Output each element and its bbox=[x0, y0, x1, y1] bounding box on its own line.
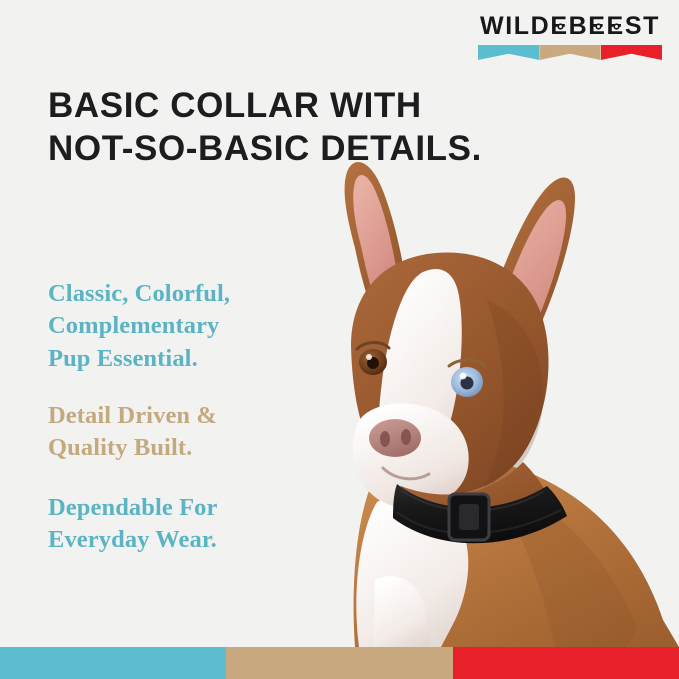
brand-wordmark: W I L D E B E E S T bbox=[475, 14, 665, 39]
brand-logo: W I L D E B E E S T bbox=[475, 14, 665, 60]
headline: BASIC COLLAR WITH NOT-SO-BASIC DETAILS. bbox=[48, 84, 482, 171]
feature-line: Everyday Wear. bbox=[48, 524, 218, 556]
wordmark-letter: B bbox=[569, 14, 589, 39]
dog-nostril-left bbox=[380, 431, 390, 447]
dog-nose bbox=[369, 419, 421, 457]
footer-segment-teal bbox=[0, 647, 226, 679]
headline-line-1: BASIC COLLAR WITH bbox=[48, 84, 482, 127]
wordmark-letter-dotted-e: E bbox=[607, 14, 625, 39]
feature-block-dependable: Dependable For Everyday Wear. bbox=[48, 492, 218, 557]
dog-eye-highlight-brown bbox=[366, 354, 372, 360]
feature-line: Detail Driven & bbox=[48, 400, 217, 432]
wordmark-letter: I bbox=[505, 14, 514, 39]
product-ad-canvas: W I L D E B E E S T BASIC COLLAR WITH NO… bbox=[0, 0, 679, 679]
collar-buckle-window bbox=[459, 504, 479, 530]
wordmark-letter: S bbox=[625, 14, 643, 39]
feature-line: Classic, Colorful, bbox=[48, 278, 230, 310]
feature-line: Pup Essential. bbox=[48, 343, 230, 375]
footer-segment-tan bbox=[226, 647, 452, 679]
product-photo-dog bbox=[255, 150, 679, 647]
brand-chevron-bar bbox=[478, 45, 662, 60]
feature-block-classic-colorful: Classic, Colorful, Complementary Pup Ess… bbox=[48, 278, 230, 375]
headline-line-2: NOT-SO-BASIC DETAILS. bbox=[48, 127, 482, 170]
brand-bar-segment-teal bbox=[478, 45, 539, 60]
wordmark-letter-dotted-e: E bbox=[588, 14, 606, 39]
feature-line: Quality Built. bbox=[48, 432, 217, 464]
wordmark-letter-dotted-e: E bbox=[550, 14, 568, 39]
feature-line: Complementary bbox=[48, 310, 230, 342]
brand-bar-segment-tan bbox=[539, 45, 600, 60]
wordmark-letter: L bbox=[514, 14, 531, 39]
dog-eye-highlight-blue bbox=[460, 373, 467, 380]
wordmark-letter: D bbox=[531, 14, 551, 39]
wordmark-letter: W bbox=[480, 14, 505, 39]
wordmark-letter: T bbox=[643, 14, 660, 39]
footer-color-bar bbox=[0, 647, 679, 679]
feature-line: Dependable For bbox=[48, 492, 218, 524]
feature-block-detail-driven: Detail Driven & Quality Built. bbox=[48, 400, 217, 465]
dog-illustration bbox=[255, 150, 679, 647]
footer-segment-red bbox=[453, 647, 679, 679]
brand-bar-segment-red bbox=[601, 45, 662, 60]
dog-nostril-right bbox=[401, 429, 411, 445]
